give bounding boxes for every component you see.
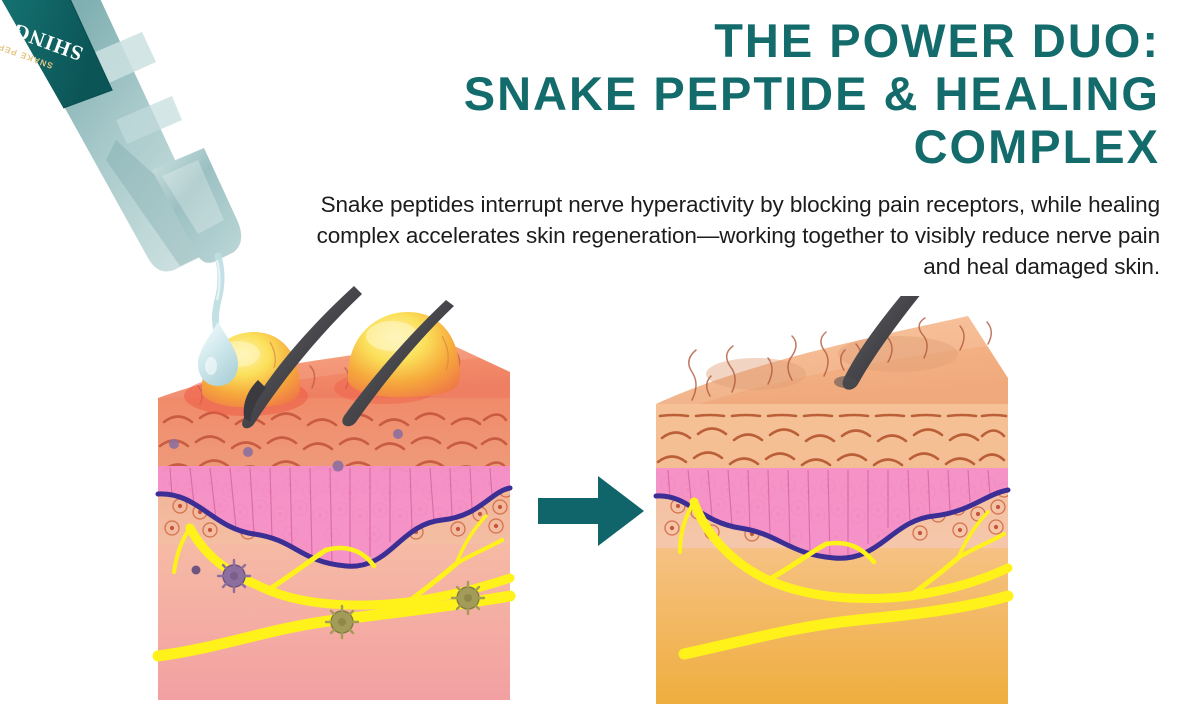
transformation-arrow bbox=[536, 468, 646, 554]
serum-droplet bbox=[198, 322, 238, 386]
applicator-svg: SHINGLES O SNAKE PEPTIDE AMPOO bbox=[0, 0, 326, 390]
product-applicator: SHINGLES O SNAKE PEPTIDE AMPOO bbox=[0, 0, 326, 390]
arrow-svg bbox=[536, 468, 646, 554]
description-paragraph: Snake peptides interrupt nerve hyperacti… bbox=[282, 189, 1160, 282]
page-title: THE POWER DUO: SNAKE PEPTIDE & HEALING C… bbox=[282, 14, 1160, 173]
headline-block: THE POWER DUO: SNAKE PEPTIDE & HEALING C… bbox=[282, 14, 1160, 282]
infographic-canvas: THE POWER DUO: SNAKE PEPTIDE & HEALING C… bbox=[0, 0, 1200, 726]
healed-skin-svg bbox=[648, 296, 1048, 716]
arrow-shape bbox=[538, 476, 644, 546]
skin-cross-section-healed bbox=[648, 296, 1048, 716]
